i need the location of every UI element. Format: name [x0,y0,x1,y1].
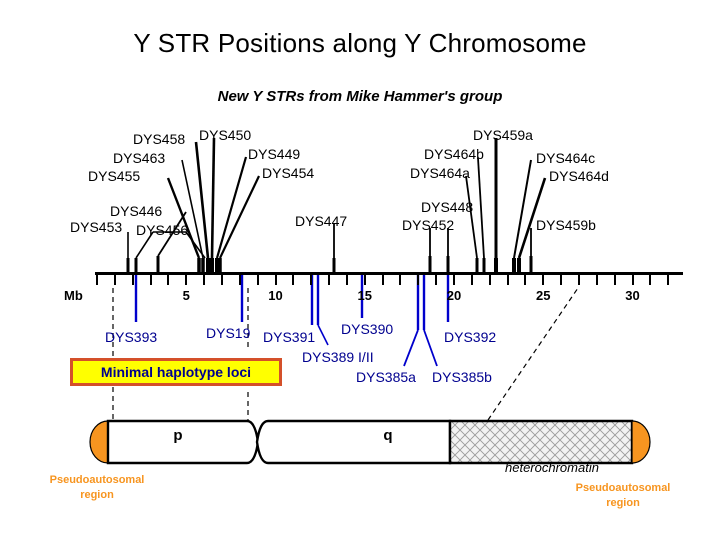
axis-tick [364,275,366,285]
axis-tick [96,275,98,285]
axis-tick [596,275,598,285]
axis-tick [167,275,169,285]
axis-tick [292,275,294,285]
pseudoautosomal-label-right: Pseudoautosomal region [548,481,698,511]
axis-tick-label: 15 [345,288,385,303]
axis-tick [132,275,134,285]
axis-tick [399,275,401,285]
heterochromatin-label: heterochromatin [505,460,599,475]
str-label-dys452: DYS452 [402,217,454,233]
str-label-dys385a: DYS385a [356,369,416,385]
axis-tick [489,275,491,285]
axis-tick [507,275,509,285]
str-label-dys464c: DYS464c [536,150,595,166]
axis-tick [328,275,330,285]
axis-tick [150,275,152,285]
y-chromosome-ideogram [0,400,720,470]
axis-tick [453,275,455,285]
str-label-dys385b: DYS385b [432,369,492,385]
axis-unit-label: Mb [64,288,83,303]
axis-tick-label: 25 [523,288,563,303]
axis-tick [239,275,241,285]
axis-tick [382,275,384,285]
axis-tick [257,275,259,285]
pseudoautosomal-cap-left [90,421,108,463]
p-arm-label: p [158,427,198,444]
pseudoautosomal-cap-right [632,421,650,463]
axis-tick [221,275,223,285]
str-label-dys449: DYS449 [248,146,300,162]
str-label-dys453: DYS453 [70,219,122,235]
str-label-dys389-i-ii: DYS389 I/II [302,349,374,365]
axis-tick [203,275,205,285]
axis-tick [524,275,526,285]
mb-axis-line [95,272,683,275]
str-label-dys463: DYS463 [113,150,165,166]
str-label-dys392: DYS392 [444,329,496,345]
axis-tick [542,275,544,285]
minimal-haplotype-callout: Minimal haplotype loci [70,358,282,386]
axis-tick [185,275,187,285]
q-arm-label: q [368,427,408,444]
str-label-dys464b: DYS464b [424,146,484,162]
str-label-dys464d: DYS464d [549,168,609,184]
axis-tick [275,275,277,285]
heterochromatin-block [450,421,632,463]
q-arm [257,421,450,463]
axis-tick [632,275,634,285]
axis-tick [560,275,562,285]
axis-tick [114,275,116,285]
axis-tick [346,275,348,285]
slide-canvas: Y STR Positions along Y Chromosome New Y… [0,0,720,540]
str-label-dys454: DYS454 [262,165,314,181]
par-left-line2: region [22,488,172,503]
par-right-line1: Pseudoautosomal [548,481,698,496]
pseudoautosomal-label-left: Pseudoautosomal region [22,473,172,503]
str-label-dys19: DYS19 [206,325,250,341]
str-label-dys459b: DYS459b [536,217,596,233]
str-label-dys393: DYS393 [105,329,157,345]
str-label-dys450: DYS450 [199,127,251,143]
axis-tick [417,275,419,285]
str-label-dys390: DYS390 [341,321,393,337]
str-label-dys391: DYS391 [263,329,315,345]
par-right-line2: region [548,496,698,511]
axis-tick [667,275,669,285]
str-label-dys464a: DYS464a [410,165,470,181]
axis-tick-label: 10 [256,288,296,303]
str-label-dys448: DYS448 [421,199,473,215]
str-label-dys446: DYS446 [110,203,162,219]
axis-tick [614,275,616,285]
axis-tick [435,275,437,285]
axis-tick [578,275,580,285]
str-label-dys458: DYS458 [133,131,185,147]
axis-tick [649,275,651,285]
axis-tick-label: 30 [613,288,653,303]
axis-tick-label: 5 [166,288,206,303]
str-label-dys456: DYS456 [136,222,188,238]
str-label-dys447: DYS447 [295,213,347,229]
str-label-dys455: DYS455 [88,168,140,184]
str-label-dys459a: DYS459a [473,127,533,143]
axis-tick-label: 20 [434,288,474,303]
par-left-line1: Pseudoautosomal [22,473,172,488]
minimal-haplotype-label: Minimal haplotype loci [101,364,251,380]
axis-tick [471,275,473,285]
axis-tick [310,275,312,285]
